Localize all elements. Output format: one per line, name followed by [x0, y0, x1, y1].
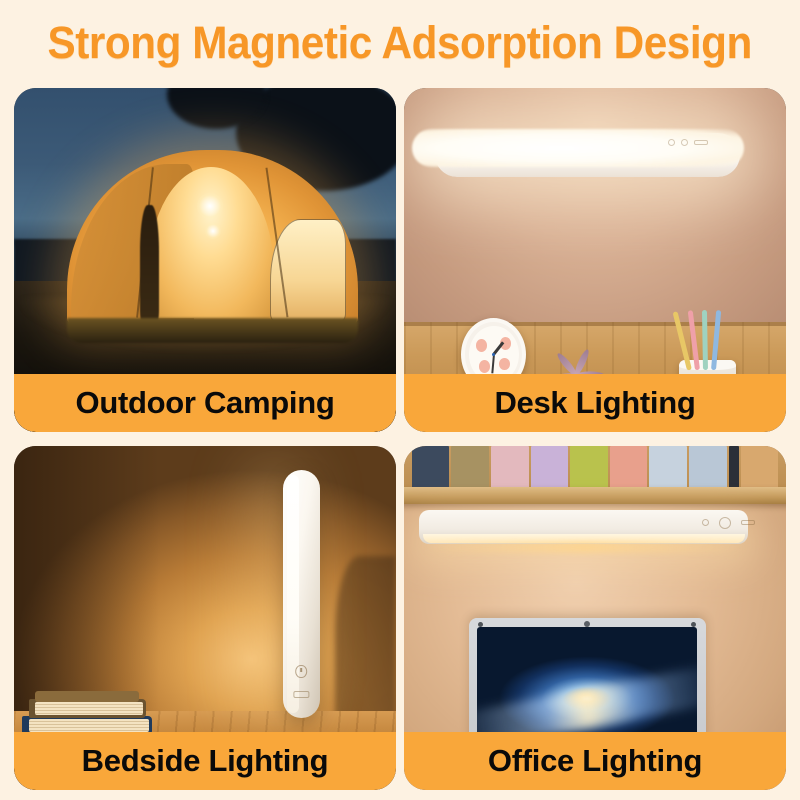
shelf-book — [689, 446, 727, 487]
caption-text: Office Lighting — [488, 743, 702, 779]
panel-caption-office-lighting: Office Lighting — [404, 732, 786, 790]
shelf-book — [649, 446, 687, 487]
feature-panel-grid: Outdoor Camping — [14, 88, 786, 790]
sensor-button — [681, 139, 688, 146]
tent-base-shadow — [67, 318, 357, 342]
book-stack — [22, 694, 152, 735]
panel-outdoor-camping[interactable]: Outdoor Camping — [14, 88, 396, 432]
caption-text: Desk Lighting — [494, 385, 695, 421]
book-item — [29, 699, 146, 717]
page-title: Strong Magnetic Adsorption Design — [48, 17, 752, 69]
shelf-book — [531, 446, 569, 487]
book-pages — [29, 719, 149, 733]
lamp-underglow — [423, 542, 744, 552]
shelf-board — [404, 487, 786, 504]
tent-lamp-glow — [197, 193, 223, 219]
panel-caption-desk-lighting: Desk Lighting — [404, 374, 786, 432]
shelf-book — [412, 446, 450, 487]
page-title-bar: Strong Magnetic Adsorption Design — [0, 12, 800, 74]
wainscot-edge — [404, 322, 786, 326]
sensor-button — [719, 517, 731, 529]
clock-decoration — [499, 358, 510, 371]
clock-decoration — [479, 360, 490, 373]
shelf-book — [491, 446, 529, 487]
usb-port-icon — [694, 140, 708, 145]
pen-icon — [702, 310, 708, 370]
panel-bedside-lighting[interactable]: Bedside Lighting — [14, 446, 396, 790]
shelf-book — [451, 446, 489, 487]
lamp-control-panel — [668, 138, 725, 147]
caption-text: Outdoor Camping — [76, 385, 335, 421]
power-icon — [296, 665, 308, 679]
panel-desk-lighting[interactable]: Desk Lighting — [404, 88, 786, 432]
led-light-emission — [423, 534, 745, 543]
shelf-book — [570, 446, 608, 487]
book-pages — [35, 702, 143, 715]
power-icon — [702, 519, 709, 526]
caption-text: Bedside Lighting — [82, 743, 329, 779]
book-item — [35, 691, 139, 702]
usb-port-icon — [294, 691, 309, 698]
power-icon — [668, 139, 675, 146]
panel-caption-outdoor-camping: Outdoor Camping — [14, 374, 396, 432]
led-bar-lamp-vertical — [283, 470, 319, 718]
led-light-emission — [412, 129, 744, 167]
shelf-book — [729, 446, 739, 487]
shelf-book — [741, 446, 779, 487]
led-bar-lamp-under-shelf — [419, 510, 748, 544]
shelf-book — [610, 446, 648, 487]
wall-surface — [404, 88, 786, 322]
shelf-books-row — [404, 446, 786, 487]
panel-office-lighting[interactable]: Office Lighting — [404, 446, 786, 790]
pens-group — [687, 369, 725, 370]
lamp-control-panel — [702, 517, 755, 529]
clock-decoration — [476, 339, 487, 352]
panel-caption-bedside-lighting: Bedside Lighting — [14, 732, 396, 790]
person-silhouette — [140, 205, 159, 322]
clock-minute-hand — [491, 354, 495, 374]
usb-port-icon — [741, 520, 755, 525]
